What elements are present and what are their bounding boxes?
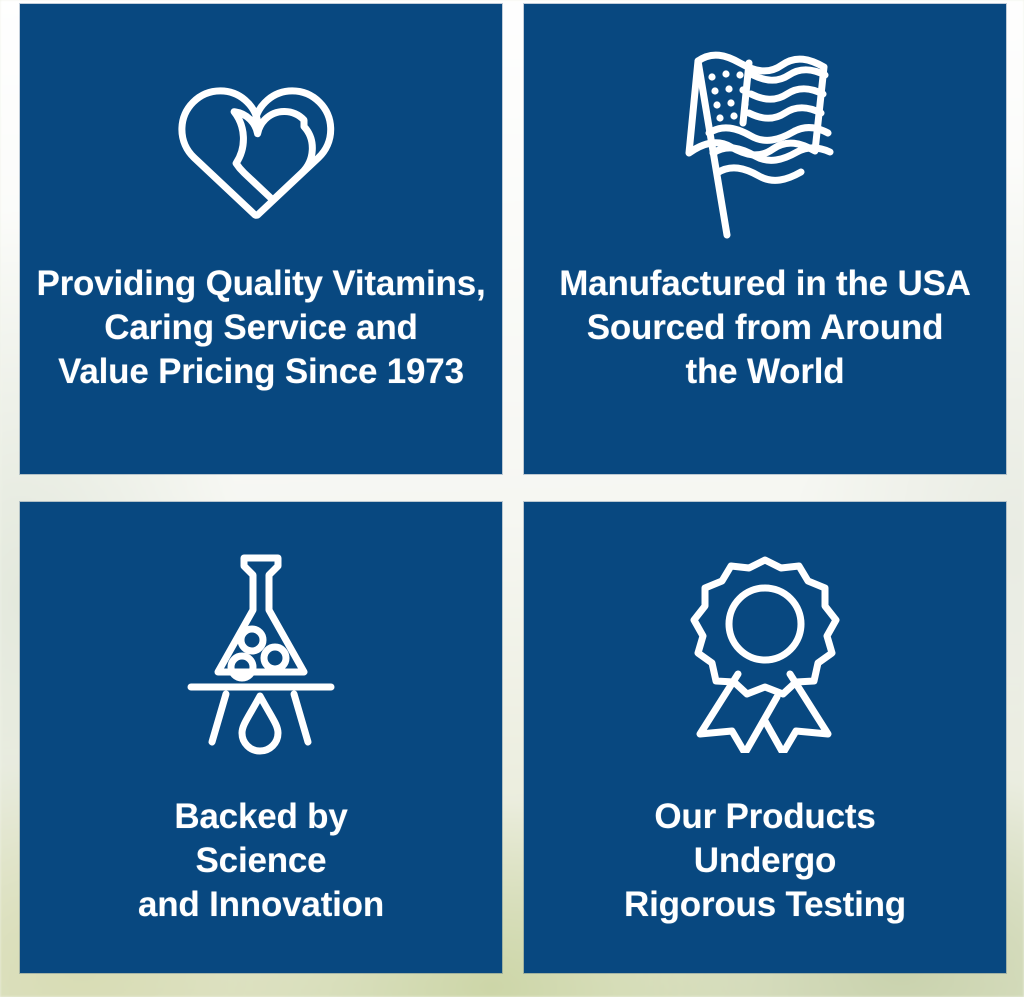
icon-zone [524, 502, 1006, 757]
icon-zone [20, 502, 502, 757]
caption-line: the World [559, 350, 971, 394]
award-ribbon-icon [678, 548, 853, 753]
usa-flag-icon [665, 37, 865, 252]
panel-backed-by-science[interactable]: Backed by Science and Innovation [20, 502, 502, 973]
caption-line: Backed by [138, 795, 384, 839]
caption-line: Value Pricing Since 1973 [36, 350, 485, 394]
panel-caption: Providing Quality Vitamins, Caring Servi… [22, 262, 499, 394]
caption-line: Sourced from Around [559, 306, 971, 350]
panel-caption: Backed by Science and Innovation [124, 795, 398, 927]
icon-zone [20, 4, 502, 254]
caption-line: and Innovation [138, 883, 384, 927]
two-hearts-icon [136, 57, 386, 242]
caption-line: Manufactured in the USA [559, 262, 971, 306]
caption-line: Science [138, 839, 384, 883]
caption-line: Caring Service and [36, 306, 485, 350]
caption-line: Our Products [624, 795, 906, 839]
caption-line: Providing Quality Vitamins, [36, 262, 485, 306]
lab-flask-icon [176, 546, 346, 756]
panel-made-in-usa[interactable]: Manufactured in the USA Sourced from Aro… [524, 4, 1006, 474]
panel-rigorous-testing[interactable]: Our Products Undergo Rigorous Testing [524, 502, 1006, 973]
panel-caption: Our Products Undergo Rigorous Testing [610, 795, 920, 927]
panel-caption: Manufactured in the USA Sourced from Aro… [545, 262, 985, 394]
icon-zone [524, 4, 1006, 254]
caption-line: Rigorous Testing [624, 883, 906, 927]
value-proposition-grid: Providing Quality Vitamins, Caring Servi… [20, 4, 1006, 973]
panel-quality-vitamins[interactable]: Providing Quality Vitamins, Caring Servi… [20, 4, 502, 474]
caption-line: Undergo [624, 839, 906, 883]
